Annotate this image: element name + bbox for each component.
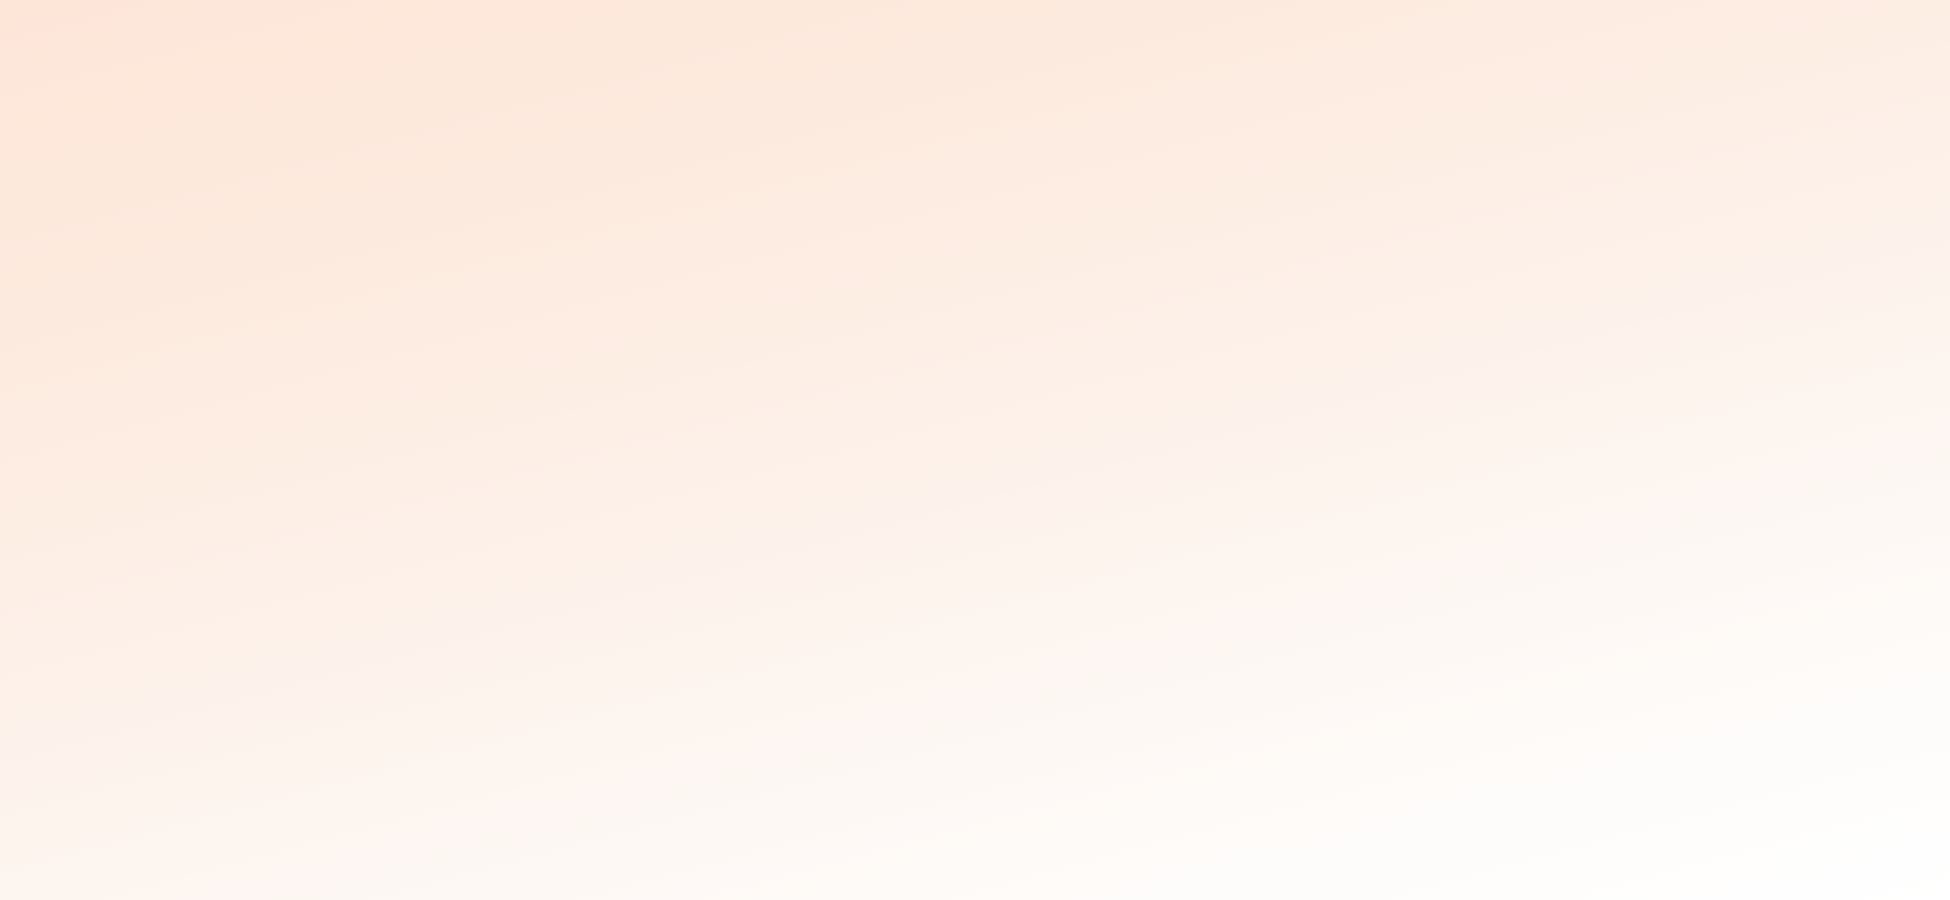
staircase-chart [0, 0, 1950, 900]
